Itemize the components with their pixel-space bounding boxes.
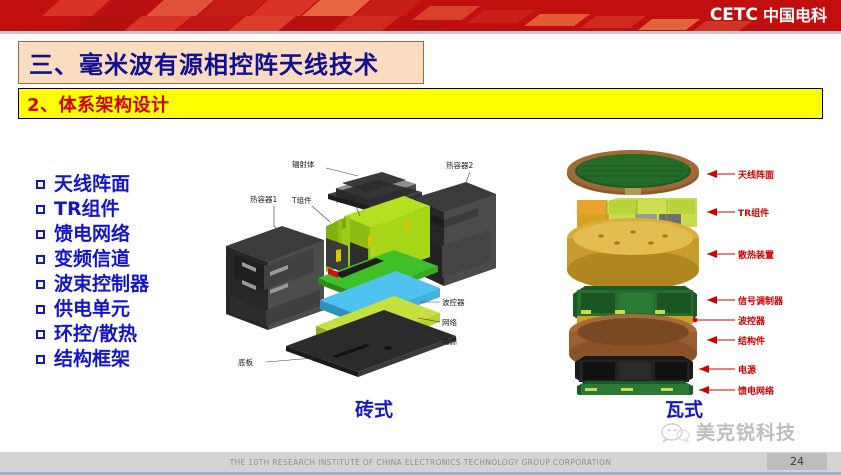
label-heat-container-2: 热容器2 xyxy=(446,160,473,170)
page-subtitle: 2、体系架构设计 xyxy=(19,91,170,117)
square-bullet-icon xyxy=(36,355,45,364)
label-heat-container-1: 热容器1 xyxy=(250,194,277,204)
list-item: 天线阵面 xyxy=(36,172,211,197)
heat-container-1-part xyxy=(226,226,324,330)
watermark: 美克锐科技 xyxy=(660,418,796,445)
logo-mark-text: CETC xyxy=(710,7,758,24)
list-item-label: 结构框架 xyxy=(54,350,130,369)
square-bullet-icon xyxy=(36,330,45,339)
list-item-label: 馈电网络 xyxy=(54,225,130,244)
list-item: 结构框架 xyxy=(36,347,211,372)
cetc-logo: CETC 中国电科 xyxy=(710,4,827,26)
slide-header-band: CETC 中国电科 xyxy=(0,0,841,31)
list-item: 变频信道 xyxy=(36,247,211,272)
feed-network-part xyxy=(577,381,693,395)
page-number: 24 xyxy=(767,453,827,470)
figure-leader-lines xyxy=(695,174,735,390)
list-item: 供电单元 xyxy=(36,297,211,322)
tile-type-exploded-diagram: 天线阵面 TR组件 散热装置 信号调制器 波控器 结构件 电源 馈电网络 xyxy=(555,150,841,395)
list-item: TR组件 xyxy=(36,197,211,222)
watermark-text: 美克锐科技 xyxy=(696,418,796,445)
list-item-label: 变频信道 xyxy=(54,250,130,269)
figure-part-labels: 天线阵面 TR组件 散热装置 信号调制器 波控器 结构件 电源 馈电网络 xyxy=(738,169,784,395)
label-signal-modulator: 信号调制器 xyxy=(738,295,784,307)
square-bullet-icon xyxy=(36,255,45,264)
label-t-module: T组件 xyxy=(291,195,312,205)
list-item: 馈电网络 xyxy=(36,222,211,247)
brick-type-caption: 砖式 xyxy=(355,395,393,422)
label-power: 电源 xyxy=(738,364,756,376)
list-item-label: 天线阵面 xyxy=(54,175,130,194)
label-beam-controller: 波控器 xyxy=(442,297,465,307)
header-underline xyxy=(0,31,841,34)
label-base-plate: 底板 xyxy=(238,357,253,367)
antenna-array-part xyxy=(567,150,699,195)
label-power: 电源 xyxy=(442,336,457,346)
square-bullet-icon xyxy=(36,230,45,239)
label-tr-module: TR组件 xyxy=(738,207,769,219)
power-unit-part xyxy=(575,356,693,384)
label-antenna-array: 天线阵面 xyxy=(738,169,774,181)
list-item: 环控/散热 xyxy=(36,322,211,347)
label-structural-part: 结构件 xyxy=(738,335,765,347)
subsection-title-box: 2、体系架构设计 xyxy=(18,88,823,119)
label-radiator: 辐射体 xyxy=(292,159,315,169)
square-bullet-icon xyxy=(36,180,45,189)
section-title-box: 三、毫米波有源相控阵天线技术 xyxy=(18,41,424,84)
list-item-label: 环控/散热 xyxy=(54,325,137,344)
footer-institute-text: THE 10TH RESEARCH INSTITUTE OF CHINA ELE… xyxy=(0,452,841,472)
square-bullet-icon xyxy=(36,305,45,314)
component-bullet-list: 天线阵面 TR组件 馈电网络 变频信道 波束控制器 供电单元 环控/散热 结构框… xyxy=(36,172,211,372)
label-feed-network: 馈电网络 xyxy=(738,385,774,395)
label-heat-sink: 散热装置 xyxy=(738,249,774,261)
list-item-label: 供电单元 xyxy=(54,300,130,319)
logo-chinese-text: 中国电科 xyxy=(763,7,827,24)
wechat-bubble-icon xyxy=(660,420,690,444)
brick-type-exploded-diagram: 辐射体 热容器1 热容器2 T组件 R组件 波控器 网络 电源 底板 xyxy=(208,150,508,390)
square-bullet-icon xyxy=(36,205,45,214)
label-r-module: R组件 xyxy=(336,195,357,205)
list-item-label: 波束控制器 xyxy=(54,275,149,294)
list-item: 波束控制器 xyxy=(36,272,211,297)
label-network: 网络 xyxy=(442,317,457,327)
label-beam-controller: 波控器 xyxy=(738,315,766,327)
list-item-label: TR组件 xyxy=(54,200,120,219)
heat-sink-part xyxy=(567,218,699,290)
square-bullet-icon xyxy=(36,280,45,289)
page-title: 三、毫米波有源相控阵天线技术 xyxy=(19,45,379,80)
